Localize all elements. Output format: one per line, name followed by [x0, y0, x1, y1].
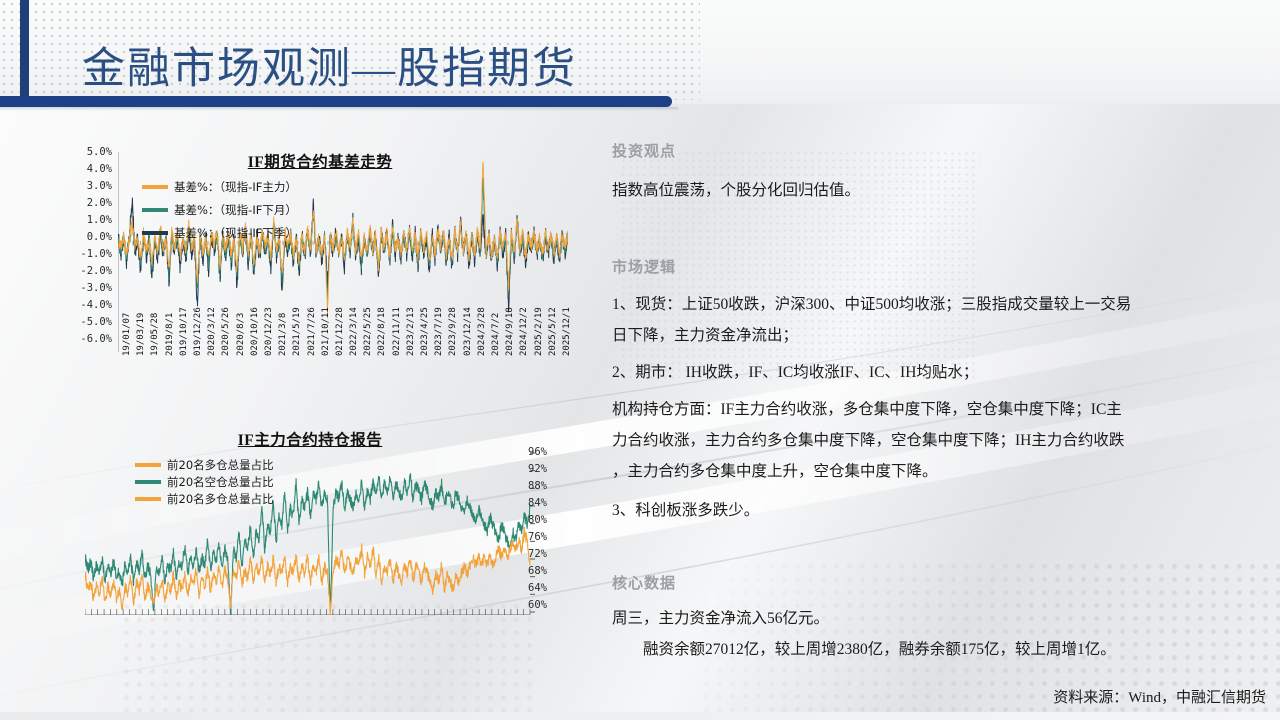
y-tick: 64%: [528, 582, 547, 594]
y-tick: 92%: [528, 463, 547, 475]
y-tick: 5.0%: [60, 146, 112, 158]
x-tick: 2020/3/12: [207, 307, 217, 356]
x-tick: 019/10/17: [179, 307, 189, 356]
x-tick: 2024/7/2: [491, 313, 501, 356]
market-logic-line: 机构持仓方面：IF主力合约收涨，多仓集中度下降，空仓集中度下降；IC主: [612, 394, 1262, 425]
position-chart-title: IF主力合约持仓报告: [160, 428, 460, 450]
core-data-line: 融资余额27012亿，较上周增2380亿，融券余额175亿，较上周增1亿。: [612, 634, 1262, 665]
x-tick: 19/05/28: [150, 313, 160, 356]
footer-strip: [0, 712, 1280, 720]
legend-item: 前20名多仓总量占比: [135, 490, 274, 507]
x-tick: 021/10/11: [321, 307, 331, 356]
position-chart: IF主力合约持仓报告 前20名多仓总量占比 前20名空仓总量占比 前20名多仓总…: [60, 428, 570, 708]
y-tick: 72%: [528, 548, 547, 560]
legend-label: 前20名空仓总量占比: [167, 474, 274, 490]
x-tick: 2022/5/25: [363, 307, 373, 356]
x-tick: 19/03/19: [136, 313, 146, 356]
x-tick: 2023/7/19: [434, 307, 444, 356]
y-tick: -6.0%: [60, 333, 112, 345]
x-tick: 021/12/28: [335, 307, 345, 356]
basis-chart: IF期货合约基差走势 5.0% 4.0% 3.0% 2.0% 1.0% 0.0%…: [60, 146, 570, 411]
y-tick: 1.0%: [60, 214, 112, 226]
legend-item: 基差%：（现指-IF下季）: [142, 224, 297, 241]
x-tick: 2021/5/19: [292, 307, 302, 356]
x-tick: 2022/3/14: [349, 307, 359, 356]
investment-view-text: 指数高位震荡，个股分化回归估值。: [612, 175, 1262, 206]
market-logic-line: 3、科创板涨多跌少。: [612, 495, 1262, 526]
y-tick: 96%: [528, 446, 547, 458]
x-tick: 2023/4/25: [420, 307, 430, 356]
market-logic-line: 2、期市： IH收跌，IF、IC均收涨IF、IC、IH均贴水；: [612, 357, 1262, 388]
y-tick: 0.0%: [60, 231, 112, 243]
legend-label: 前20名多仓总量占比: [167, 491, 274, 507]
market-logic-line: ，主力合约多仓集中度上升，空仓集中度下降。: [612, 456, 1262, 487]
basis-chart-x-axis: 19/01/0719/03/1919/05/282019/8/1019/10/1…: [118, 356, 568, 416]
x-tick: 2023/2/13: [406, 307, 416, 356]
x-tick: 2024/12/2: [519, 307, 529, 356]
position-chart-x-axis: 2019-01-012019-02-082019-03-152019-04-22…: [85, 620, 540, 698]
y-tick: 2.0%: [60, 197, 112, 209]
section-heading-core-data: 核心数据: [612, 572, 1262, 593]
y-tick: 88%: [528, 480, 547, 492]
x-tick: 19/01/07: [122, 313, 132, 356]
market-logic-body: 1、现货：上证50收跌，沪深300、中证500均收涨；三股指成交量较上一交易 日…: [612, 289, 1262, 526]
x-tick: 020/12/23: [264, 307, 274, 356]
x-tick: 2024/3/28: [477, 307, 487, 356]
header-left-accent-bar: [20, 0, 29, 104]
header-rule-shadow: [0, 107, 678, 111]
x-tick: 2021/3/8: [278, 313, 288, 356]
x-tick: 2024/9/18: [505, 307, 515, 356]
commentary-column: 投资观点 指数高位震荡，个股分化回归估值。 市场逻辑 1、现货：上证50收跌，沪…: [612, 140, 1262, 665]
x-tick: 2025/5/12: [548, 307, 558, 356]
y-tick: 3.0%: [60, 180, 112, 192]
legend-item: 前20名多仓总量占比: [135, 456, 274, 473]
section-heading-investment-view: 投资观点: [612, 140, 1262, 161]
x-tick: 2021/7/26: [307, 307, 317, 356]
x-tick: 2019/8/1: [165, 313, 175, 356]
legend-label: 前20名多仓总量占比: [167, 457, 274, 473]
legend-swatch-icon: [135, 463, 161, 467]
x-tick: 2020/8/3: [236, 313, 246, 356]
slide-root: 金融市场观测—股指期货 IF期货合约基差走势 5.0% 4.0% 3.0% 2.…: [0, 0, 1280, 720]
y-tick: -1.0%: [60, 248, 112, 260]
source-note: 资料来源：Wind，中融汇信期货: [1053, 686, 1266, 707]
x-tick: 020/10/16: [250, 307, 260, 356]
legend-label: 基差%：（现指-IF下季）: [174, 225, 297, 241]
legend-swatch-icon: [135, 480, 161, 484]
x-tick: 2022/8/18: [377, 307, 387, 356]
y-tick: -5.0%: [60, 316, 112, 328]
page-title: 金融市场观测—股指期货: [82, 34, 577, 96]
legend-swatch-icon: [142, 231, 168, 235]
legend-item: 基差%：（现指-IF主力）: [142, 178, 297, 195]
x-tick: 2020/5/26: [221, 307, 231, 356]
y-tick: 60%: [528, 599, 547, 611]
y-tick: 76%: [528, 531, 547, 543]
x-tick: 019/12/26: [193, 307, 203, 356]
x-tick: 022/11/11: [392, 307, 402, 356]
x-tick: 023/12/14: [463, 307, 473, 356]
legend-swatch-icon: [142, 185, 168, 189]
basis-chart-legend: 基差%：（现指-IF主力） 基差%：（现指-IF下月） 基差%：（现指-IF下季…: [142, 178, 297, 241]
market-logic-line: 日下降，主力资金净流出；: [612, 320, 1262, 351]
section-heading-market-logic: 市场逻辑: [612, 256, 1262, 277]
legend-item: 前20名空仓总量占比: [135, 473, 274, 490]
market-logic-line: 1、现货：上证50收跌，沪深300、中证500均收涨；三股指成交量较上一交易: [612, 289, 1262, 320]
y-tick: -4.0%: [60, 299, 112, 311]
legend-label: 基差%：（现指-IF主力）: [174, 179, 297, 195]
y-tick: -2.0%: [60, 265, 112, 277]
position-chart-legend: 前20名多仓总量占比 前20名空仓总量占比 前20名多仓总量占比: [135, 456, 274, 507]
x-tick: 2025/12/1: [562, 307, 572, 356]
core-data-line: 周三，主力资金净流入56亿元。: [612, 603, 1262, 634]
header-accent-rule: [0, 96, 672, 107]
y-tick: 84%: [528, 497, 547, 509]
market-logic-line: 力合约收涨，主力合约多仓集中度下降，空仓集中度下降；IH主力合约收跌: [612, 425, 1262, 456]
y-tick: 68%: [528, 565, 547, 577]
y-tick: 4.0%: [60, 163, 112, 175]
y-tick: -3.0%: [60, 282, 112, 294]
legend-swatch-icon: [135, 497, 161, 501]
x-tick: 2023/9/28: [448, 307, 458, 356]
y-tick: 80%: [528, 514, 547, 526]
x-tick: 2025/2/19: [534, 307, 544, 356]
legend-label: 基差%：（现指-IF下月）: [174, 202, 297, 218]
legend-item: 基差%：（现指-IF下月）: [142, 201, 297, 218]
legend-swatch-icon: [142, 208, 168, 212]
